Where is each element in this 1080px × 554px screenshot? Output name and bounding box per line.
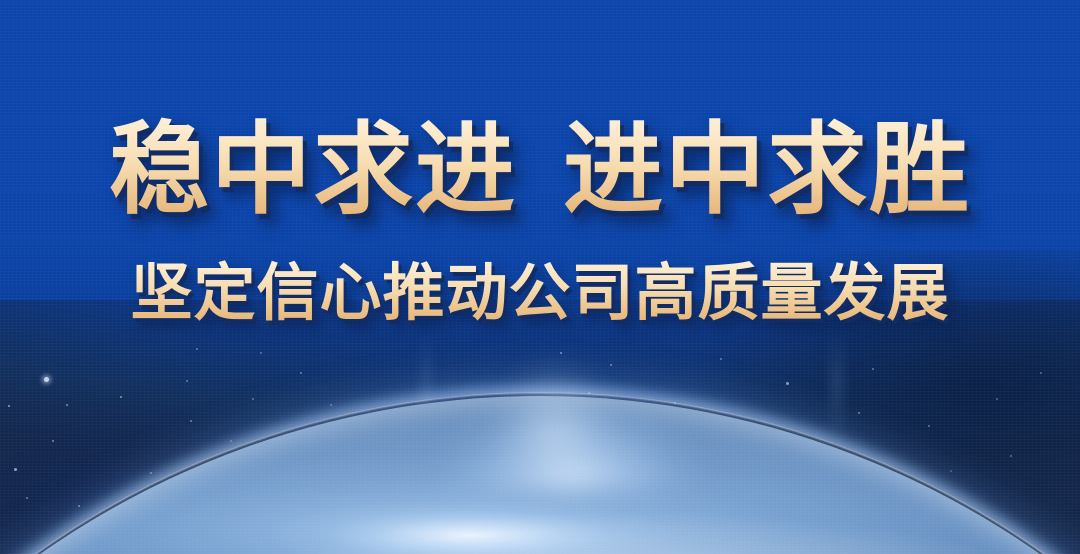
banner-poster: 稳中求进进中求胜 坚定信心推动公司高质量发展 [0, 0, 1080, 554]
headline-part-2: 进中求胜 [563, 111, 971, 228]
headline-part-1: 稳中求进 [109, 111, 517, 228]
subheadline: 坚定信心推动公司高质量发展 [0, 255, 1080, 331]
headline: 稳中求进进中求胜 [0, 112, 1080, 228]
